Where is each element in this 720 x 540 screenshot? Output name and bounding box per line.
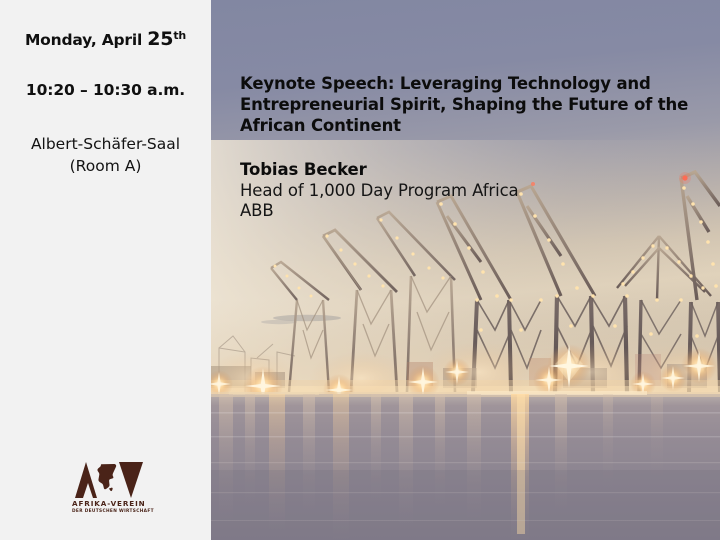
speaker-role: Head of 1,000 Day Program Africa	[240, 181, 700, 201]
session-date: Monday, April 25th	[0, 28, 211, 50]
session-room-label: (Room A)	[0, 155, 211, 177]
logo-title: AFRIKA-VEREIN	[72, 500, 144, 508]
presentation-slide: Monday, April 25th 10:20 – 10:30 a.m. Al…	[0, 0, 720, 540]
logo-text: AFRIKA-VEREIN DER DEUTSCHEN WIRTSCHAFT	[72, 500, 144, 515]
afrika-verein-logo: AFRIKA-VEREIN DER DEUTSCHEN WIRTSCHAFT	[72, 459, 144, 517]
session-info-panel: Monday, April 25th 10:20 – 10:30 a.m. Al…	[0, 0, 211, 540]
session-room-name: Albert-Schäfer-Saal	[0, 133, 211, 155]
talk-title: Keynote Speech: Leveraging Technology an…	[240, 74, 700, 136]
session-date-day: 25	[147, 28, 173, 50]
session-date-prefix: Monday, April	[25, 31, 147, 49]
logo-mark	[72, 459, 144, 499]
session-date-ordinal: th	[173, 29, 186, 42]
africa-continent-icon	[97, 463, 119, 493]
logo-subtitle: DER DEUTSCHEN WIRTSCHAFT	[72, 509, 144, 515]
session-time: 10:20 – 10:30 a.m.	[0, 81, 211, 99]
logo-letter-a-notch	[83, 483, 93, 498]
session-room: Albert-Schäfer-Saal (Room A)	[0, 133, 211, 177]
speaker-name: Tobias Becker	[240, 160, 700, 180]
talk-details: Keynote Speech: Leveraging Technology an…	[240, 74, 700, 222]
logo-letter-v-icon	[119, 462, 143, 498]
speaker-organization: ABB	[240, 201, 700, 221]
